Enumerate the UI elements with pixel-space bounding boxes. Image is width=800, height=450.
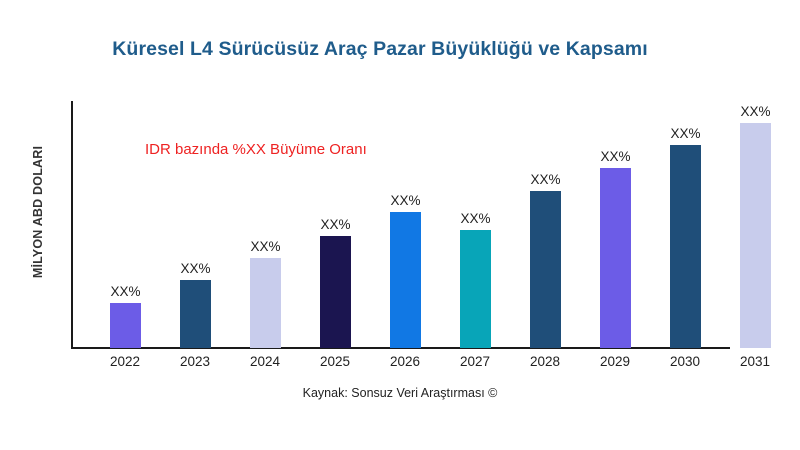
chart-container: Küresel L4 Sürücüsüz Araç Pazar Büyüklüğ… xyxy=(0,0,800,450)
x-tick-2023: 2023 xyxy=(165,354,225,369)
x-tick-2031: 2031 xyxy=(725,354,785,369)
x-tick-2025: 2025 xyxy=(305,354,365,369)
source-note: Kaynak: Sonsuz Veri Araştırması © xyxy=(0,386,800,400)
bar-value-label: XX% xyxy=(460,211,490,226)
bar-value-label: XX% xyxy=(180,261,210,276)
x-tick-2022: 2022 xyxy=(95,354,155,369)
x-tick-2026: 2026 xyxy=(375,354,435,369)
bar-value-label: XX% xyxy=(110,284,140,299)
bar-value-label: XX% xyxy=(390,193,420,208)
bar-2022[interactable] xyxy=(110,303,141,348)
x-tick-2027: 2027 xyxy=(445,354,505,369)
bar-value-label: XX% xyxy=(670,126,700,141)
bar-2031[interactable] xyxy=(740,123,771,348)
bar-2025[interactable] xyxy=(320,236,351,348)
growth-rate-annotation: IDR bazında %XX Büyüme Oranı xyxy=(145,141,367,158)
x-tick-2030: 2030 xyxy=(655,354,715,369)
bar-value-label: XX% xyxy=(740,104,770,119)
bar-2029[interactable] xyxy=(600,168,631,348)
bar-value-label: XX% xyxy=(530,172,560,187)
bar-2030[interactable] xyxy=(670,145,701,348)
bar-2028[interactable] xyxy=(530,191,561,348)
bar-value-label: XX% xyxy=(600,149,630,164)
bar-value-label: XX% xyxy=(250,239,280,254)
bar-2023[interactable] xyxy=(180,280,211,348)
bar-2027[interactable] xyxy=(460,230,491,348)
bar-value-label: XX% xyxy=(320,217,350,232)
plot-area: XX% XX% XX% XX% XX% XX% XX% XX% xyxy=(0,0,800,450)
bar-2026[interactable] xyxy=(390,212,421,348)
y-axis-line xyxy=(71,101,73,349)
x-tick-2028: 2028 xyxy=(515,354,575,369)
x-tick-2024: 2024 xyxy=(235,354,295,369)
x-tick-2029: 2029 xyxy=(585,354,645,369)
bar-2024[interactable] xyxy=(250,258,281,348)
